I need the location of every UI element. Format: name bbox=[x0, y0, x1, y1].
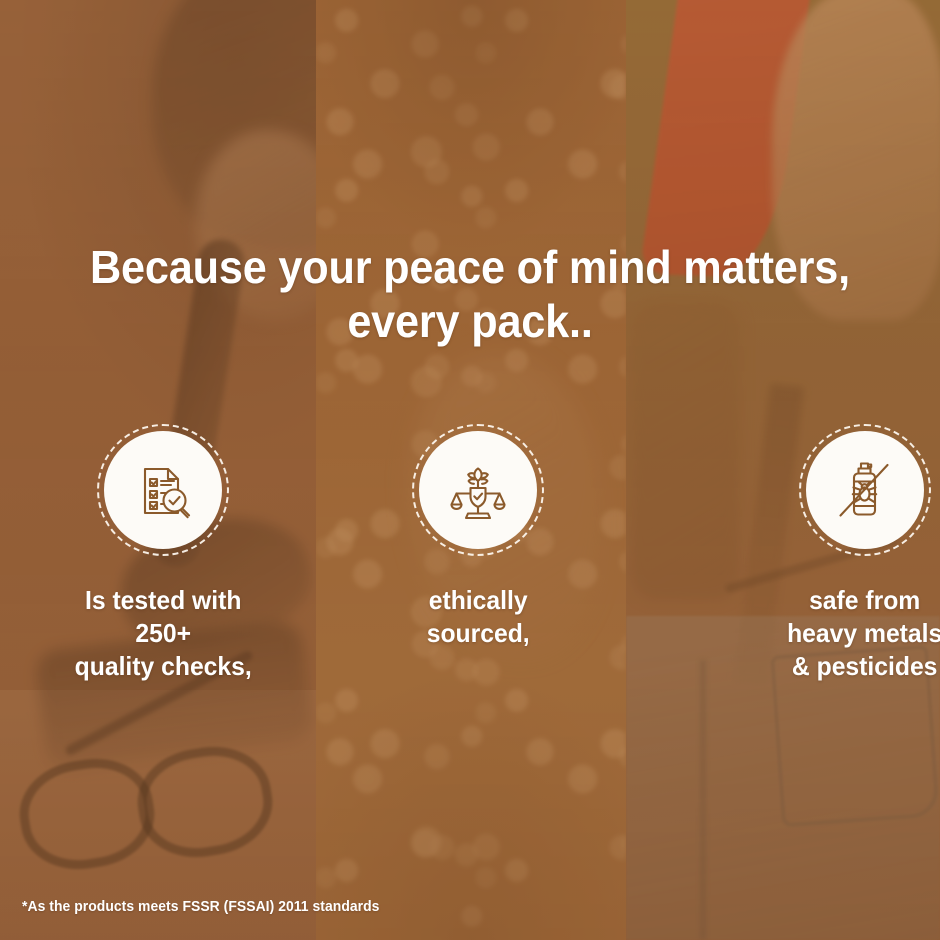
poster-content: Because your peace of mind matters, ever… bbox=[0, 0, 940, 940]
no-pesticide-spray-can-icon bbox=[830, 455, 900, 525]
promo-poster: Because your peace of mind matters, ever… bbox=[0, 0, 940, 940]
caption-line-3: & pesticides bbox=[787, 650, 940, 683]
feature-caption: Is tested with 250+ quality checks, bbox=[74, 584, 251, 683]
caption-line-2: heavy metals bbox=[787, 617, 940, 650]
caption-line-1: Is tested with bbox=[74, 584, 251, 617]
caption-line-2: sourced, bbox=[427, 617, 530, 650]
caption-line-3: quality checks, bbox=[74, 650, 251, 683]
feature-badge bbox=[412, 424, 544, 556]
headline: Because your peace of mind matters, ever… bbox=[28, 240, 912, 348]
clipboard-checklist-magnifier-icon bbox=[128, 455, 198, 525]
caption-line-1: ethically bbox=[427, 584, 530, 617]
balance-scale-wheat-shield-icon bbox=[443, 455, 513, 525]
feature-badge bbox=[799, 424, 931, 556]
caption-line-1: safe from bbox=[787, 584, 940, 617]
headline-line-1: Because your peace of mind matters, bbox=[90, 241, 850, 293]
badge-disc bbox=[806, 431, 924, 549]
caption-line-2: 250+ bbox=[74, 617, 251, 650]
feature-badge bbox=[97, 424, 229, 556]
feature-list: Is tested with 250+ quality checks, bbox=[0, 424, 940, 683]
feature-item-quality-checks: Is tested with 250+ quality checks, bbox=[0, 424, 316, 683]
headline-line-2: every pack.. bbox=[85, 294, 856, 348]
footnote-disclaimer: *As the products meets FSSR (FSSAI) 2011… bbox=[22, 899, 379, 915]
badge-disc bbox=[419, 431, 537, 549]
feature-caption: ethically sourced, bbox=[427, 584, 530, 650]
feature-caption: safe from heavy metals & pesticides bbox=[787, 584, 940, 683]
badge-disc bbox=[104, 431, 222, 549]
feature-item-no-pesticides: safe from heavy metals & pesticides bbox=[626, 424, 940, 683]
feature-item-ethically-sourced: ethically sourced, bbox=[316, 424, 626, 683]
